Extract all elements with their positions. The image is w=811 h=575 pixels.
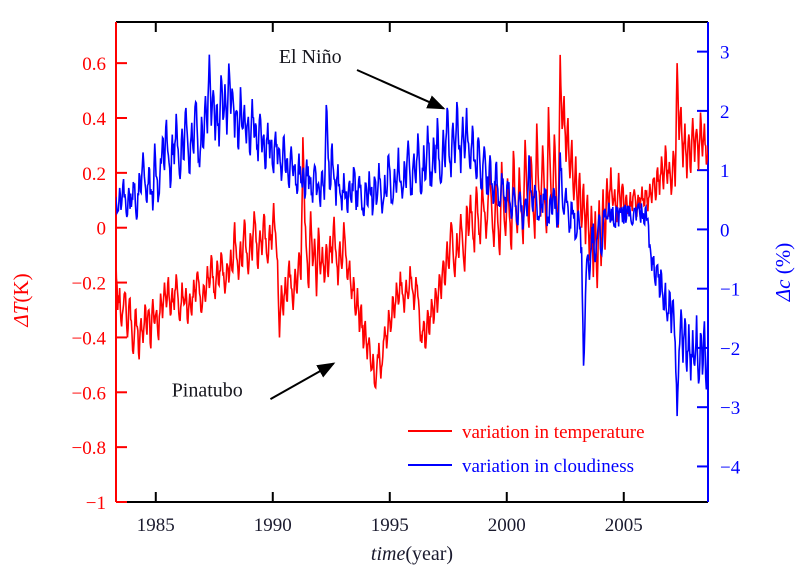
left-tick-label: 0.4 bbox=[82, 109, 106, 130]
left-tick-label: −0.6 bbox=[72, 383, 106, 404]
left-tick-label: 0.2 bbox=[82, 164, 106, 185]
left-tick-label: 0.6 bbox=[82, 54, 106, 75]
left-tick-label: 0 bbox=[97, 219, 107, 240]
right-tick-label: 1 bbox=[720, 161, 730, 182]
right-tick-label: 2 bbox=[720, 102, 730, 123]
annotation-label-el-nino: El Niño bbox=[279, 46, 342, 68]
chart-figure: 0.60.40.20−0.2−0.4−0.6−0.8−1 3210−1−2−3−… bbox=[0, 0, 811, 575]
right-tick-label: 0 bbox=[720, 220, 730, 241]
x-tick-label: 1990 bbox=[254, 515, 292, 536]
right-tick-label: 3 bbox=[720, 43, 730, 64]
x-tick-label: 1995 bbox=[371, 515, 409, 536]
left-tick-label: −0.4 bbox=[72, 328, 107, 349]
x-tick-label: 1985 bbox=[137, 515, 175, 536]
left-tick-label: −1 bbox=[86, 493, 106, 514]
x-tick-label: 2000 bbox=[488, 515, 526, 536]
right-tick-label: −3 bbox=[720, 398, 740, 419]
x-axis-title-italic: time bbox=[371, 543, 406, 565]
left-tick-label: −0.2 bbox=[72, 274, 106, 295]
legend-label-temperature: variation in temperature bbox=[462, 422, 645, 443]
annotation-label-pinatubo: Pinatubo bbox=[172, 379, 243, 401]
right-tick-label: −4 bbox=[720, 457, 741, 478]
right-axis-title: Δc (%) bbox=[771, 243, 795, 302]
left-tick-label: −0.8 bbox=[72, 438, 106, 459]
x-axis-title: time(year) bbox=[371, 543, 453, 565]
right-tick-label: −2 bbox=[720, 339, 740, 360]
left-axis-title: ΔT(K) bbox=[9, 273, 33, 327]
climate-timeseries-chart: 0.60.40.20−0.2−0.4−0.6−0.8−1 3210−1−2−3−… bbox=[0, 0, 811, 575]
x-axis-title-rest: (year) bbox=[405, 543, 453, 565]
right-tick-label: −1 bbox=[720, 280, 740, 301]
x-tick-label: 2005 bbox=[605, 515, 643, 536]
legend-label-cloudiness: variation in cloudiness bbox=[462, 456, 634, 477]
